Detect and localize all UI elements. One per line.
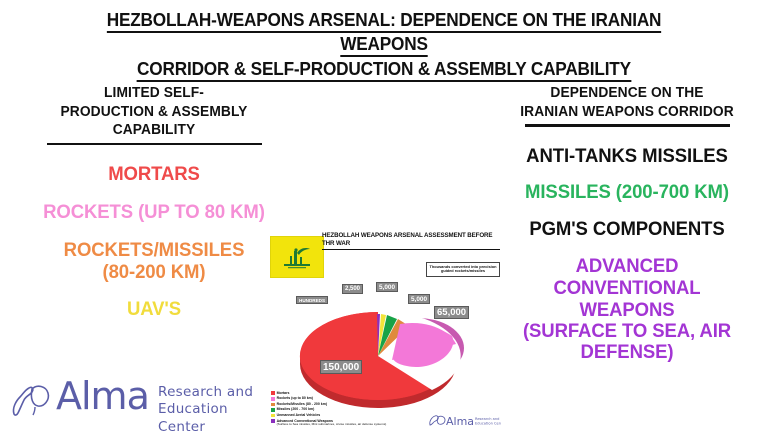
page-title-line2: CORRIDOR & SELF-PRODUCTION & ASSEMBLY CA… bbox=[137, 58, 631, 82]
alma-tagline-line2: Education Center bbox=[158, 401, 270, 436]
legend-label-sub: (Surface to Sea missiles, Mini submarine… bbox=[277, 423, 387, 427]
left-item-0-label: MORTARS bbox=[108, 163, 200, 185]
embedded-pie-chart: HEZBOLLAH WEAPONS ARSENAL ASSESSMENT BEF… bbox=[266, 228, 502, 432]
left-column-heading: LIMITED SELF- PRODUCTION & ASSEMBLY CAPA… bbox=[25, 84, 283, 140]
right-column-heading: DEPENDENCE ON THE IRANIAN WEAPONS CORRID… bbox=[504, 84, 749, 121]
legend-label: Unmanned Aerial Vehicles bbox=[277, 413, 321, 417]
right-item-3-sub2: (SURFACE TO SEA, AIR bbox=[504, 321, 749, 342]
left-item-3-label: UAV'S bbox=[127, 298, 181, 320]
right-heading-line1: DEPENDENCE ON THE bbox=[504, 84, 749, 103]
legend-swatch-icon bbox=[271, 414, 275, 418]
legend-item: Rockets/Missiles (80 - 200 km) bbox=[271, 402, 431, 406]
left-column-items: MORTARS ROCKETS (UP TO 80 KM) ROCKETS/MI… bbox=[18, 164, 290, 320]
svg-text:Alma: Alma bbox=[446, 415, 474, 428]
page-title-line1: HEZBOLLAH-WEAPONS ARSENAL: DEPENDENCE ON… bbox=[107, 9, 662, 57]
alma-logo: Alma Research and Education Center bbox=[8, 374, 270, 428]
legend-label: Advanced Conventional Weapons (Surface t… bbox=[277, 419, 387, 427]
map-outline-icon bbox=[10, 380, 56, 422]
svg-text:Education Center: Education Center bbox=[475, 422, 501, 426]
alma-tagline-line1: Research and bbox=[158, 384, 270, 401]
chart-annotation: Thousands converted into precision guide… bbox=[426, 262, 500, 277]
left-item-1-label: ROCKETS (UP TO 80 KM) bbox=[43, 201, 265, 223]
list-item: ROCKETS/MISSILES (80-200 KM) bbox=[25, 240, 283, 283]
legend-label: Mortars bbox=[277, 391, 290, 395]
legend-label: Rockets (up to 80 km) bbox=[277, 396, 313, 400]
list-item: PGM'S COMPONENTS bbox=[504, 219, 749, 241]
left-heading-line1: LIMITED SELF- bbox=[25, 84, 283, 103]
list-item: MORTARS bbox=[25, 164, 283, 186]
pie-area: HUNDREDS 2,500 5,000 5,000 65,000 150,00… bbox=[266, 256, 502, 408]
right-item-3-sub3: DEFENSE) bbox=[504, 342, 749, 363]
legend-label: Missiles (200 - 700 km) bbox=[277, 407, 315, 411]
left-column: LIMITED SELF- PRODUCTION & ASSEMBLY CAPA… bbox=[18, 84, 290, 337]
legend-item: Advanced Conventional Weapons (Surface t… bbox=[271, 419, 431, 427]
left-item-2-sub: (80-200 KM) bbox=[25, 262, 283, 283]
right-item-2-label: PGM'S COMPONENTS bbox=[529, 218, 724, 240]
list-item: MISSILES (200-700 KM) bbox=[504, 182, 749, 204]
right-column-items: ANTI-TANKS MISSILES MISSILES (200-700 KM… bbox=[498, 146, 756, 363]
right-column: DEPENDENCE ON THE IRANIAN WEAPONS CORRID… bbox=[498, 84, 756, 378]
alma-tagline: Research and Education Center bbox=[158, 384, 270, 436]
right-item-3-sub: WEAPONS bbox=[504, 300, 749, 321]
list-item: ANTI-TANKS MISSILES bbox=[504, 146, 749, 168]
legend-item: Rockets (up to 80 km) bbox=[271, 396, 431, 400]
legend-item: Unmanned Aerial Vehicles bbox=[271, 413, 431, 417]
legend-swatch-icon bbox=[271, 419, 275, 423]
svg-text:Research and: Research and bbox=[475, 417, 499, 421]
pie-label-hundreds: HUNDREDS bbox=[296, 296, 328, 304]
chart-alma-logo: Alma Research and Education Center bbox=[427, 412, 501, 430]
legend-item: Mortars bbox=[271, 391, 431, 395]
pie-label-5000-a: 5,000 bbox=[376, 282, 398, 292]
alma-wordmark: Alma bbox=[56, 377, 149, 415]
legend-swatch-icon bbox=[271, 391, 275, 395]
legend-swatch-icon bbox=[271, 408, 275, 412]
chart-title: HEZBOLLAH WEAPONS ARSENAL ASSESSMENT BEF… bbox=[322, 232, 500, 250]
legend-label: Rockets/Missiles (80 - 200 km) bbox=[277, 402, 327, 406]
page-title: HEZBOLLAH-WEAPONS ARSENAL: DEPENDENCE ON… bbox=[64, 8, 704, 81]
list-item: ADVANCED CONVENTIONAL WEAPONS (SURFACE T… bbox=[504, 256, 749, 363]
pie-label-65000: 65,000 bbox=[434, 306, 469, 319]
right-heading-underline bbox=[525, 124, 730, 127]
legend-item: Missiles (200 - 700 km) bbox=[271, 407, 431, 411]
list-item: UAV'S bbox=[25, 299, 283, 321]
slide-canvas: HEZBOLLAH-WEAPONS ARSENAL: DEPENDENCE ON… bbox=[0, 0, 768, 432]
chart-legend: Mortars Rockets (up to 80 km) Rockets/Mi… bbox=[271, 391, 431, 428]
right-item-1-label: MISSILES (200-700 KM) bbox=[525, 181, 729, 203]
right-item-3-label: ADVANCED CONVENTIONAL bbox=[553, 255, 700, 299]
list-item: ROCKETS (UP TO 80 KM) bbox=[25, 202, 283, 224]
pie-label-2500: 2,500 bbox=[342, 284, 363, 294]
pie-label-5000-b: 5,000 bbox=[408, 294, 430, 304]
left-heading-line2: PRODUCTION & ASSEMBLY CAPABILITY bbox=[25, 103, 283, 140]
left-heading-underline bbox=[47, 143, 262, 146]
pie-label-150000: 150,000 bbox=[320, 360, 362, 374]
legend-swatch-icon bbox=[271, 403, 275, 407]
left-item-2-label: ROCKETS/MISSILES bbox=[64, 239, 245, 261]
right-item-0-label: ANTI-TANKS MISSILES bbox=[526, 145, 728, 167]
legend-swatch-icon bbox=[271, 397, 275, 401]
right-heading-line2: IRANIAN WEAPONS CORRIDOR bbox=[504, 103, 749, 122]
pie-svg bbox=[266, 256, 502, 408]
